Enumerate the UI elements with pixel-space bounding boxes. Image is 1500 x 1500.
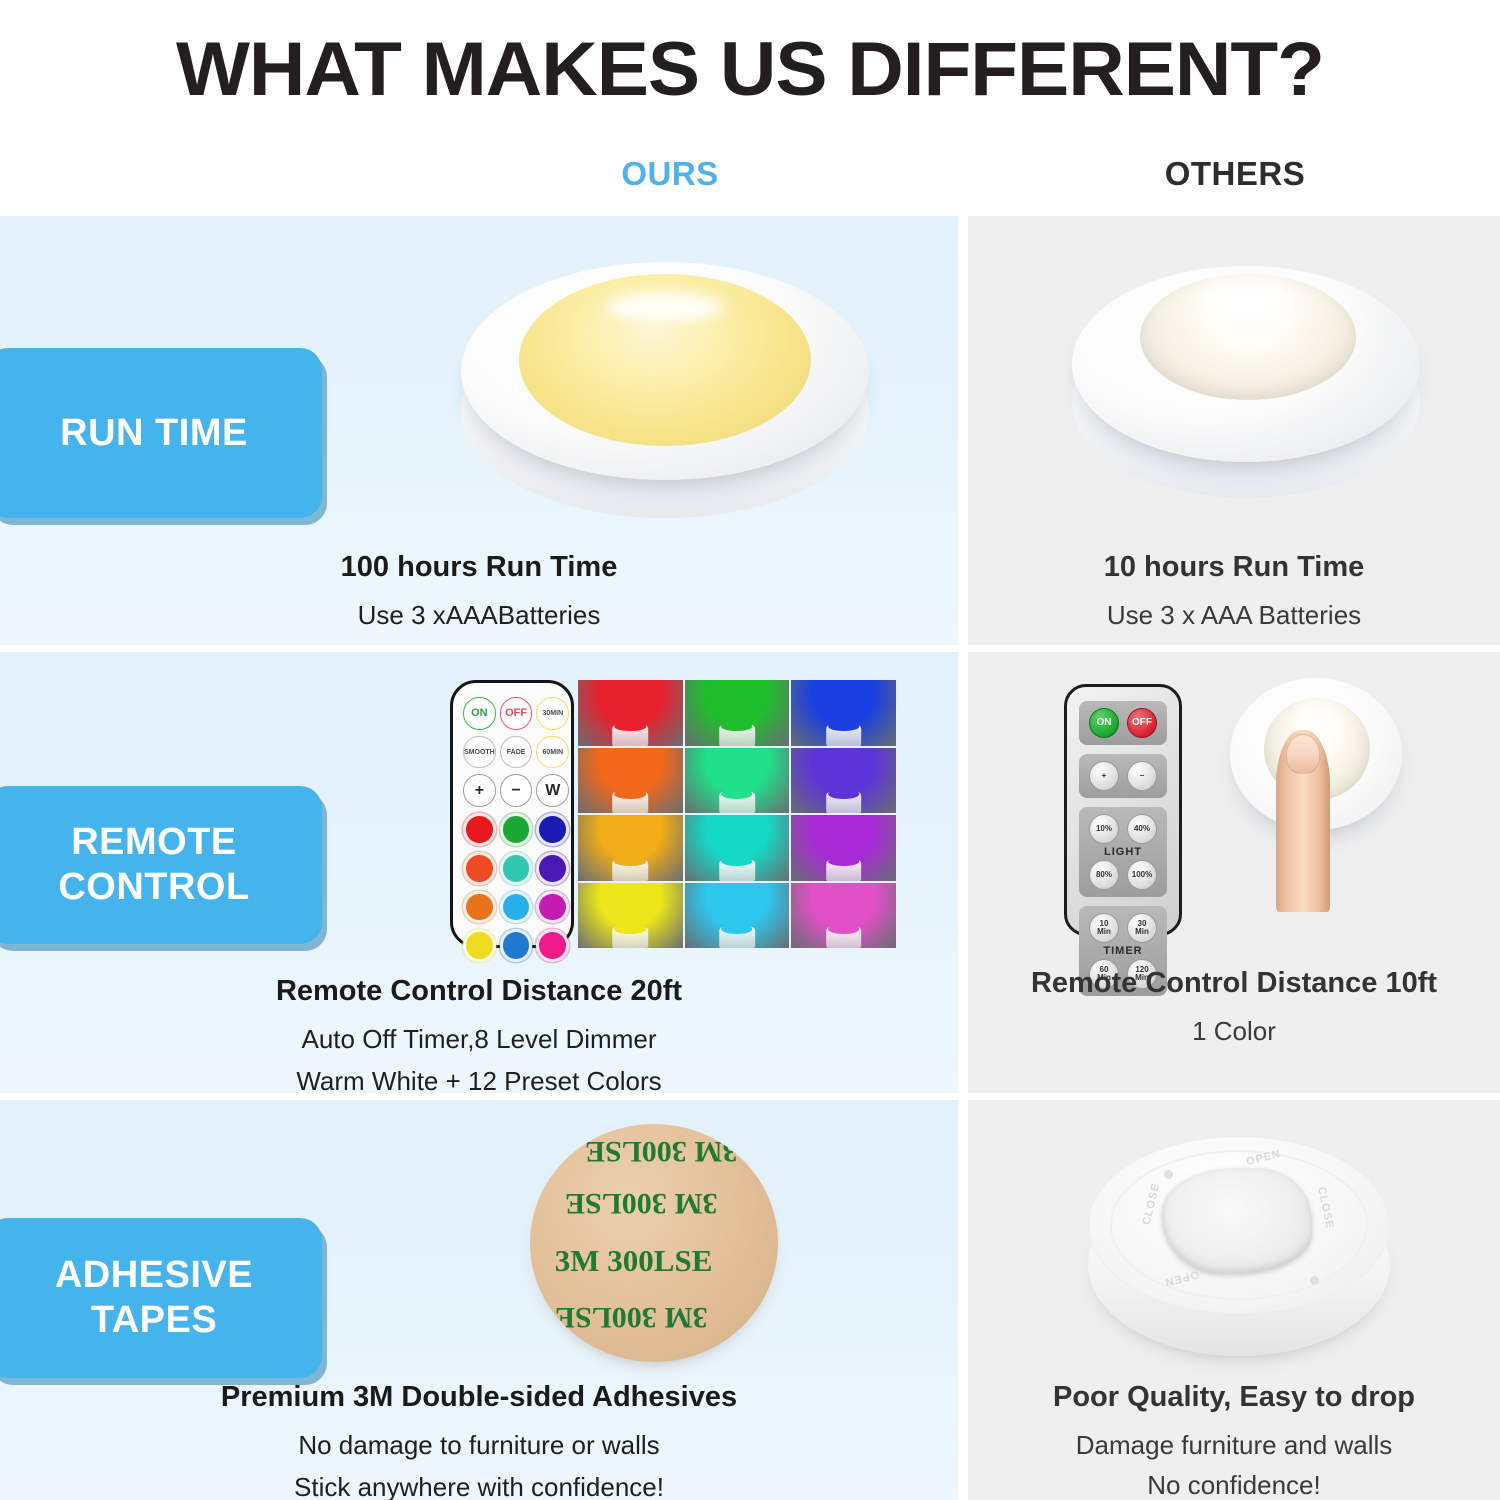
power-panel: ONOFF	[1079, 701, 1167, 745]
color-preview-9	[791, 815, 896, 881]
remote-color-button-10[interactable]	[463, 929, 496, 962]
column-header-others: OTHERS	[985, 155, 1485, 193]
adhesive-label-1: 3M 300LSE	[585, 1134, 738, 1168]
others-remote-button-100-[interactable]: 100%	[1127, 860, 1157, 890]
timer-section-label: TIMER	[1085, 945, 1161, 957]
broken-puck-light: OPEN CLOSE CLOSE OPEN	[1058, 1128, 1422, 1376]
remote-color-button-2[interactable]	[500, 813, 533, 846]
puck-light-ours	[455, 240, 875, 540]
ours-remote-headline: Remote Control Distance 20ft	[0, 972, 958, 1010]
color-preview-10	[578, 883, 683, 949]
light-section-label: LIGHT	[1085, 846, 1161, 858]
color-preview-3	[791, 680, 896, 746]
remote-color-button-3[interactable]	[536, 813, 569, 846]
remote-button-fade[interactable]: FADE	[500, 736, 533, 769]
color-preview-4	[578, 748, 683, 814]
remote-control-others[interactable]: ONOFF +− 10%40% LIGHT 80%100% 10Min30Min…	[1064, 684, 1182, 936]
panel-others-adhesive: OPEN CLOSE CLOSE OPEN Poor Quality, Easy…	[968, 1100, 1500, 1500]
remote-button--[interactable]: +	[463, 774, 496, 807]
ours-adhesive-headline: Premium 3M Double-sided Adhesives	[0, 1378, 958, 1416]
page-title: WHAT MAKES US DIFFERENT?	[0, 26, 1500, 113]
fingernail	[1286, 734, 1320, 774]
remote-control-ours[interactable]: ONOFF30MINSMOOTHFADE60MIN+−W	[450, 680, 574, 948]
others-adhesive-sub1: Damage furniture and walls	[968, 1428, 1500, 1463]
others-remote-sub1: 1 Color	[968, 1014, 1500, 1049]
dimmer-panel: +−	[1079, 754, 1167, 798]
remote-button-60min[interactable]: 60MIN	[536, 736, 569, 769]
ours-run-time-headline: 100 hours Run Time	[0, 548, 958, 586]
others-run-time-headline: 10 hours Run Time	[968, 548, 1500, 586]
remote-color-button-5[interactable]	[500, 852, 533, 885]
remote-button-30min[interactable]: 30MIN	[536, 697, 569, 730]
remote-button-w[interactable]: W	[536, 774, 569, 807]
glue-residue	[1162, 1168, 1312, 1274]
category-tab-remote-control[interactable]: REMOTECONTROL	[0, 786, 322, 944]
puck-light-others	[1058, 248, 1438, 528]
remote-button-smooth[interactable]: SMOOTH	[463, 736, 496, 769]
color-preview-1	[578, 680, 683, 746]
panel-others-run-time: 10 hours Run Time Use 3 x AAA Batteries	[968, 216, 1500, 645]
others-adhesive-sub2: No confidence!	[968, 1468, 1500, 1500]
adhesive-label-3: 3M 300LSE	[555, 1243, 713, 1279]
others-remote-button-40-[interactable]: 40%	[1127, 814, 1157, 844]
color-preview-12	[791, 883, 896, 949]
remote-color-button-11[interactable]	[500, 929, 533, 962]
remote-color-button-12[interactable]	[536, 929, 569, 962]
adhesive-label-4: 3M 300LSE	[555, 1300, 708, 1334]
remote-button-off[interactable]: OFF	[500, 697, 533, 730]
category-tab-run-time[interactable]: RUN TIME	[0, 348, 322, 518]
light-panel: 10%40% LIGHT 80%100%	[1079, 807, 1167, 897]
remote-color-button-7[interactable]	[463, 891, 496, 924]
ours-run-time-sub: Use 3 xAAABatteries	[0, 598, 958, 633]
remote-color-button-1[interactable]	[463, 813, 496, 846]
color-preview-grid	[578, 680, 896, 948]
ours-remote-sub1: Auto Off Timer,8 Level Dimmer	[0, 1022, 958, 1057]
remote-button-on[interactable]: ON	[463, 697, 496, 730]
others-remote-button--[interactable]: +	[1089, 761, 1119, 791]
others-remote-button-80-[interactable]: 80%	[1089, 860, 1119, 890]
remote-color-button-4[interactable]	[463, 852, 496, 885]
others-remote-button--[interactable]: −	[1127, 761, 1157, 791]
color-preview-6	[791, 748, 896, 814]
remote-color-button-9[interactable]	[536, 891, 569, 924]
category-tab-adhesive-tapes[interactable]: ADHESIVETAPES	[0, 1218, 322, 1378]
color-preview-5	[685, 748, 790, 814]
others-remote-button-30-min[interactable]: 30Min	[1127, 913, 1157, 943]
finger-press-illustration	[1206, 672, 1436, 948]
column-header-ours: OURS	[400, 155, 940, 193]
adhesive-disc-3m: 3M 300LSE3M 300LSE3M 300LSE3M 300LSE	[530, 1124, 778, 1362]
ours-remote-sub2: Warm White + 12 Preset Colors	[0, 1064, 958, 1099]
panel-others-remote-control: ONOFF +− 10%40% LIGHT 80%100% 10Min30Min…	[968, 652, 1500, 1093]
color-preview-8	[685, 815, 790, 881]
comparison-infographic: WHAT MAKES US DIFFERENT? OURS OTHERS 100…	[0, 0, 1500, 1500]
others-remote-button-10-[interactable]: 10%	[1089, 814, 1119, 844]
others-remote-headline: Remote Control Distance 10ft	[968, 964, 1500, 1002]
others-remote-button-off[interactable]: OFF	[1127, 708, 1157, 738]
color-preview-7	[578, 815, 683, 881]
remote-color-button-8[interactable]	[500, 891, 533, 924]
color-preview-2	[685, 680, 790, 746]
color-preview-11	[685, 883, 790, 949]
remote-button--[interactable]: −	[500, 774, 533, 807]
others-remote-button-10-min[interactable]: 10Min	[1089, 913, 1119, 943]
others-adhesive-headline: Poor Quality, Easy to drop	[968, 1378, 1500, 1416]
others-remote-button-on[interactable]: ON	[1089, 708, 1119, 738]
ours-adhesive-sub1: No damage to furniture or walls	[0, 1428, 958, 1463]
adhesive-label-2: 3M 300LSE	[565, 1186, 718, 1220]
remote-color-button-6[interactable]	[536, 852, 569, 885]
ours-adhesive-sub2: Stick anywhere with confidence!	[0, 1470, 958, 1500]
others-run-time-sub: Use 3 x AAA Batteries	[968, 598, 1500, 633]
